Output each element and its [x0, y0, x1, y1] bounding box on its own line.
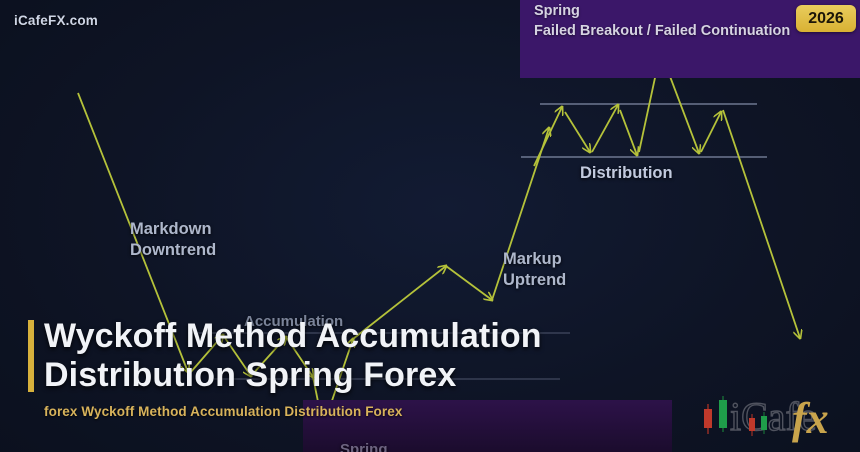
markdown-phase-label: Markdown Downtrend [130, 219, 216, 260]
top-banner-line2: Failed Breakout / Failed Continuation [534, 23, 790, 39]
page-title: Wyckoff Method Accumulation Distribution… [44, 317, 664, 396]
title-accent-bar [28, 320, 34, 392]
page-subtitle: forex Wyckoff Method Accumulation Distri… [44, 404, 402, 419]
markup-arrow-2 [446, 266, 492, 300]
icafefx-logo: iCafe fx [694, 390, 854, 448]
site-watermark: iCafeFX.com [14, 13, 98, 28]
top-banner-text: Spring Failed Breakout / Failed Continua… [534, 2, 790, 41]
distribution-phase-label: Distribution [580, 164, 673, 183]
infographic-canvas: iCafeFX.com Spring Failed Breakout / Fai… [0, 0, 860, 452]
dist-down-1 [565, 112, 590, 152]
title-line-1: Wyckoff Method Accumulation [44, 317, 664, 356]
dist-up-3 [701, 112, 721, 152]
final-markdown-arrow [723, 110, 800, 338]
top-banner-line1: Spring [534, 3, 580, 19]
spring-caption-label: Spring [340, 441, 388, 452]
dist-down-2 [620, 110, 637, 155]
dist-up-2 [592, 105, 618, 152]
title-line-2: Distribution Spring Forex [44, 356, 664, 395]
year-badge: 2026 [796, 5, 856, 32]
candlestick-icon [704, 396, 727, 434]
logo-word-fx: fx [792, 394, 829, 443]
markup-phase-label: Markup Uptrend [503, 249, 566, 290]
